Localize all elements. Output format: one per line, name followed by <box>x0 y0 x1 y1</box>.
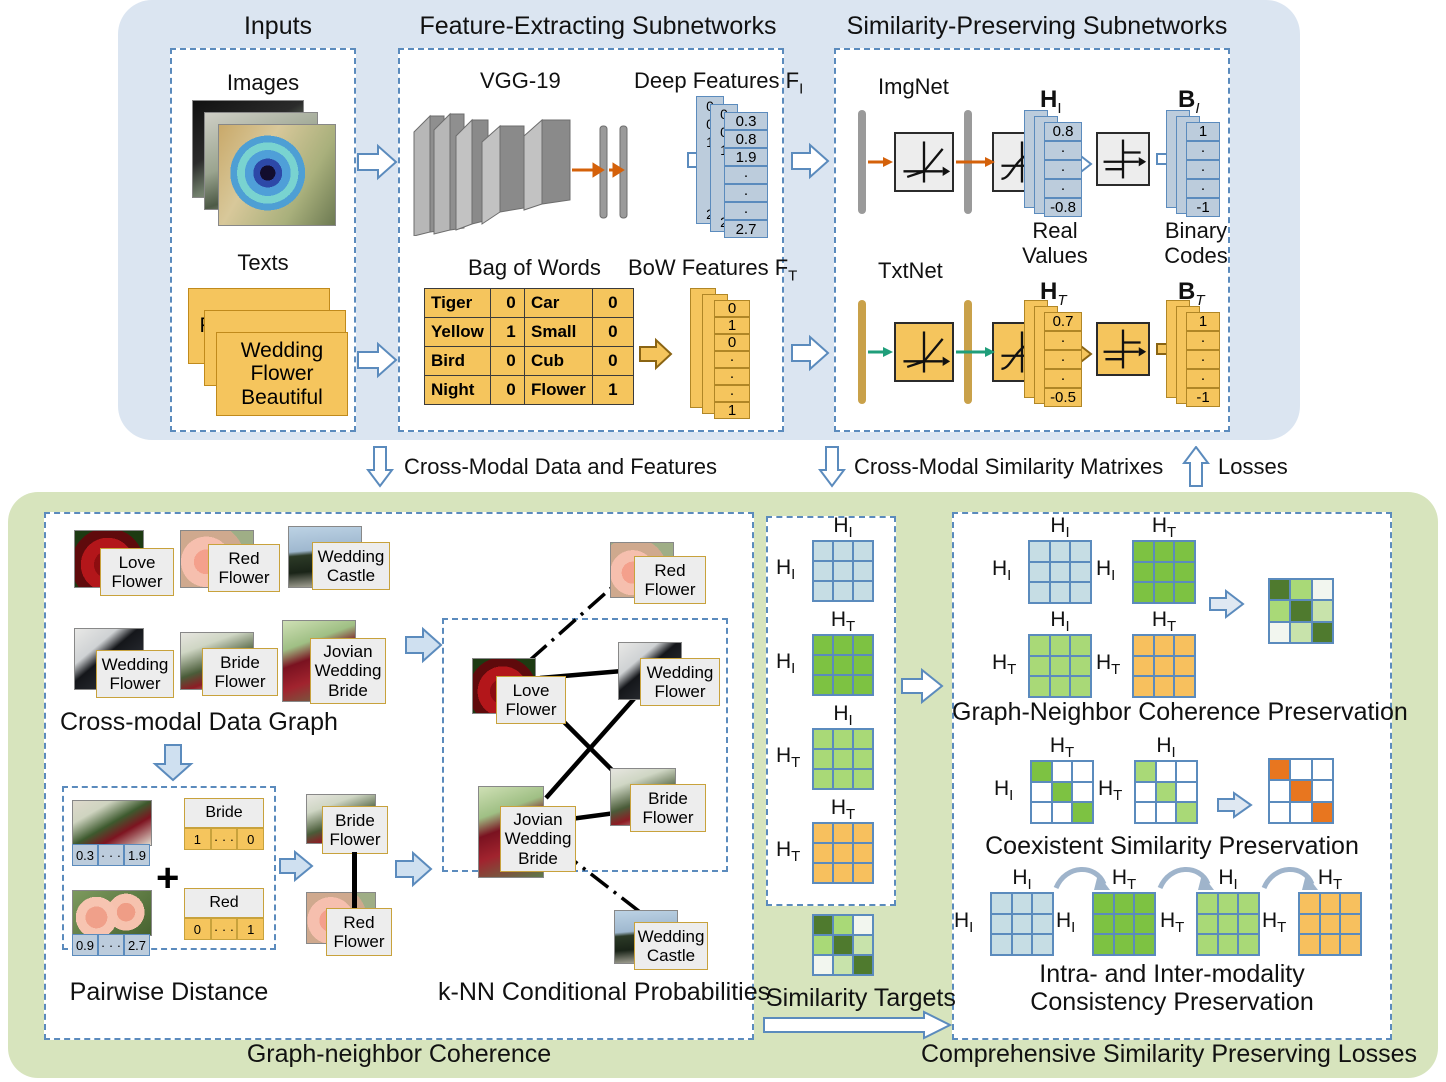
matrix-cell <box>1072 802 1093 823</box>
bow-word: Cub <box>525 347 593 376</box>
input-image-1 <box>218 124 336 226</box>
matrix-cell <box>1029 656 1050 677</box>
h-i-vector: 0.8···-0.8 <box>1044 122 1082 217</box>
matrix-row-subscript: I <box>1111 567 1115 584</box>
matrix-cell <box>1135 761 1156 782</box>
node-label[interactable]: LoveFlower <box>496 676 566 724</box>
node-label-line: Bride <box>648 789 688 808</box>
matrix-cell <box>1052 802 1073 823</box>
arrow-bowfeatures-to-txtnet <box>790 332 832 374</box>
vector-cell: · <box>1044 350 1082 369</box>
node-label-line: Flower <box>654 682 705 701</box>
matrix-row-letter: H <box>954 909 969 932</box>
similarity-matrix <box>1132 540 1196 604</box>
matrix-col-subscript: I <box>849 712 853 729</box>
node-label-line: Wedding <box>315 661 382 680</box>
matrix-cell <box>1070 562 1091 583</box>
vector-cell: · <box>714 368 750 385</box>
matrix-cell <box>991 934 1012 955</box>
matrix-cell <box>813 561 833 581</box>
node-label[interactable]: BrideFlower <box>202 648 278 696</box>
matrix-cell <box>1156 782 1177 803</box>
bow-word: Tiger <box>425 289 491 318</box>
binary-codes-label: Binary Codes <box>1148 218 1244 269</box>
bow-features-label: BoW Features FT <box>628 255 797 284</box>
bow-table-left: Tiger0Yellow1Bird0Night0 <box>424 288 532 405</box>
bow-word: Bird <box>425 347 491 376</box>
matrix-row-subscript: I <box>969 919 973 936</box>
bow-word: Yellow <box>425 318 491 347</box>
similarity-matrix <box>990 892 1054 956</box>
arrow-txtnet-2 <box>956 345 996 359</box>
matrix-cell <box>813 729 833 749</box>
vector-cell: · <box>1044 179 1082 198</box>
node-label-line: Wedding <box>318 547 385 566</box>
matrix-cell <box>813 675 833 695</box>
matrix-cell <box>1114 934 1135 955</box>
matrix-cell <box>1238 914 1259 935</box>
pairwise-text-title: Red <box>184 888 264 918</box>
node-label[interactable]: BrideFlower <box>322 806 388 854</box>
matrix-cell <box>1197 893 1218 914</box>
arrow-datagraph-to-knn <box>404 624 444 664</box>
vector-cell: · <box>1186 179 1220 198</box>
matrix-cell <box>1154 541 1175 562</box>
matrix-col-label: HT <box>1030 734 1094 761</box>
vector-cell: 1 <box>237 918 264 940</box>
node-label-line: Jovian <box>513 810 562 829</box>
vector-cell: 2.7 <box>124 934 150 956</box>
matrix-cell <box>1340 914 1361 935</box>
matrix-cell <box>1320 914 1341 935</box>
bow-table-right: Car0Small0Cub0Flower1 <box>524 288 634 405</box>
vector-cell: · <box>724 202 768 220</box>
matrix-cell <box>1269 780 1290 801</box>
matrix-cell <box>1070 582 1091 603</box>
matrix-cell <box>1154 582 1175 603</box>
matrix-row-subscript: I <box>1007 567 1011 584</box>
matrix-cell <box>1174 582 1195 603</box>
consistency-transfer-arrow <box>1052 860 1114 894</box>
node-label[interactable]: BrideFlower <box>630 784 706 832</box>
similarity-matrix <box>1132 634 1196 698</box>
matrix-cell <box>1290 802 1311 823</box>
bow-row: Car0 <box>525 289 634 318</box>
arrow-images-to-vgg <box>356 140 400 184</box>
matrix-col-subscript: T <box>1167 618 1176 635</box>
matrix-row-label: HI <box>954 909 973 936</box>
bow-word: Night <box>425 376 491 405</box>
matrix-cell <box>1218 914 1239 935</box>
matrix-cell <box>833 561 853 581</box>
matrix-cell <box>1133 541 1154 562</box>
matrix-row-label: HI <box>776 556 795 583</box>
vector-cell: 1 <box>184 828 211 850</box>
pairwise-image-vector: 0.9· · ·2.7 <box>72 934 150 956</box>
node-label-line: Flower <box>109 674 160 693</box>
matrix-cell <box>1312 622 1333 643</box>
similarity-matrix <box>1298 892 1362 956</box>
matrix-cell <box>813 749 833 769</box>
vector-cell: 1.9 <box>124 844 150 866</box>
matrix-cell <box>1299 893 1320 914</box>
matrix-col-subscript: I <box>1066 618 1070 635</box>
vector-cell: · <box>714 351 750 368</box>
matrix-cell <box>853 749 873 769</box>
bow-word: Small <box>525 318 593 347</box>
matrix-col-letter: H <box>1218 866 1233 889</box>
matrix-row-letter: H <box>1098 777 1113 800</box>
matrix-cell <box>1133 676 1154 697</box>
bow-row: Tiger0 <box>425 289 532 318</box>
matrix-cell <box>853 863 873 883</box>
vgg-network-icon <box>404 84 674 236</box>
matrix-cell <box>1133 656 1154 677</box>
matrix-col-letter: H <box>833 702 848 725</box>
matrix-cell <box>1012 893 1033 914</box>
matrix-cell <box>1320 893 1341 914</box>
matrix-cell <box>1154 676 1175 697</box>
matrix-row-subscript: T <box>791 848 800 865</box>
matrix-row-subscript: I <box>1009 787 1013 804</box>
bow-label: Bag of Words <box>468 255 601 281</box>
bow-feature-vector: 010···1 <box>714 300 750 419</box>
matrix-col-subscript: T <box>1065 744 1074 761</box>
matrix-cell <box>813 915 833 935</box>
connector-label-similarity-matrixes: Cross-Modal Similarity Matrixes <box>854 454 1163 480</box>
data-graph-caption: Cross-modal Data Graph <box>60 708 338 737</box>
real-values-line2: Values <box>1010 243 1100 268</box>
leaky-relu-icon-txt <box>894 322 954 382</box>
matrix-cell <box>833 823 853 843</box>
matrix-cell <box>1029 562 1050 583</box>
matrix-cell <box>1093 934 1114 955</box>
matrix-col-label: HI <box>812 702 874 729</box>
similarity-matrix <box>1134 760 1198 824</box>
arrow-bow-to-bowfeatures <box>638 336 674 372</box>
imgnet-input-layer <box>858 110 866 214</box>
arrow-gnc-result <box>1208 588 1246 620</box>
matrix-cell <box>1114 893 1135 914</box>
matrix-cell <box>1299 914 1320 935</box>
matrix-cell <box>833 655 853 675</box>
coexistent-caption: Coexistent Similarity Preservation <box>952 832 1392 861</box>
node-label[interactable]: JovianWeddingBride <box>310 638 386 704</box>
matrix-cell <box>1135 802 1156 823</box>
matrix-cell <box>853 581 873 601</box>
matrix-cell <box>991 914 1012 935</box>
arrow-simtargets-right <box>762 1010 952 1040</box>
node-label[interactable]: WeddingCastle <box>312 542 390 590</box>
matrix-cell <box>1032 934 1053 955</box>
node-label-line: Flower <box>505 700 556 719</box>
matrix-cell <box>1154 635 1175 656</box>
bow-row: Night0 <box>425 376 532 405</box>
binary-codes-line1: Binary <box>1148 218 1244 243</box>
node-label-line: Wedding <box>505 829 572 848</box>
knn-caption: k-NN Conditional Probabilities <box>438 978 770 1007</box>
matrix-cell <box>833 863 853 883</box>
node-label[interactable]: RedFlower <box>634 556 706 604</box>
matrix-cell <box>1134 934 1155 955</box>
matrix-col-subscript: T <box>1333 876 1342 893</box>
matrix-col-subscript: T <box>846 806 855 823</box>
matrix-cell <box>813 541 833 561</box>
node-label[interactable]: WeddingCastle <box>634 922 708 970</box>
vector-cell: 0.9 <box>72 934 98 956</box>
matrix-cell <box>1174 676 1195 697</box>
vector-cell: · <box>1186 350 1220 369</box>
arrow-imgnet-2 <box>956 155 996 169</box>
bow-value: 0 <box>592 289 633 318</box>
vector-cell: · <box>714 385 750 402</box>
matrix-cell <box>1312 802 1333 823</box>
node-label-line: Bride <box>335 811 375 830</box>
consistency-caption: Intra- and Inter-modality Consistency Pr… <box>952 960 1392 1016</box>
deep-feature-vector: 0.30.81.9···2.7 <box>724 112 768 238</box>
vector-cell: · <box>1044 160 1082 179</box>
vector-cell: · <box>1044 369 1082 388</box>
matrix-row-letter: H <box>1056 909 1071 932</box>
vector-cell: 1 <box>1186 122 1220 141</box>
bow-row: Cub0 <box>525 347 634 376</box>
matrix-col-subscript: T <box>1127 876 1136 893</box>
bow-row: Flower1 <box>525 376 634 405</box>
bottom-right-title: Comprehensive Similarity Preserving Loss… <box>900 1040 1438 1069</box>
graph-neighbor-result-heatmap <box>1268 578 1334 644</box>
bow-value: 0 <box>592 318 633 347</box>
matrix-row-subscript: I <box>1071 919 1075 936</box>
matrix-col-label: HI <box>990 866 1054 893</box>
node-label[interactable]: RedFlower <box>208 544 280 592</box>
matrix-cell <box>813 769 833 789</box>
matrix-cell <box>813 655 833 675</box>
matrix-cell <box>1156 802 1177 823</box>
matrix-cell <box>1174 541 1195 562</box>
matrix-col-letter: H <box>1152 514 1167 537</box>
matrix-col-letter: H <box>1012 866 1027 889</box>
matrix-cell <box>1290 759 1311 780</box>
similarity-matrix <box>812 822 874 884</box>
matrix-row-letter: H <box>776 744 791 767</box>
matrix-row-subscript: T <box>1175 919 1184 936</box>
matrix-cell <box>1312 600 1333 621</box>
h-i-subscript: I <box>1057 100 1061 117</box>
similarity-matrix <box>812 728 874 790</box>
matrix-row-label: HT <box>776 744 800 771</box>
pairwise-edge <box>352 852 357 908</box>
h-t-subscript: T <box>1057 292 1066 309</box>
node-label-line: Wedding <box>102 655 169 674</box>
bow-row: Yellow1 <box>425 318 532 347</box>
node-label-line: Bride <box>518 849 558 868</box>
vector-cell: 0 <box>714 300 750 317</box>
vector-cell: 1 <box>714 402 750 419</box>
vector-cell: 0 <box>714 334 750 351</box>
text-card-1: Wedding Flower Beautiful <box>216 332 348 416</box>
similarity-matrix <box>1030 760 1094 824</box>
matrix-cell <box>1197 914 1218 935</box>
matrix-col-letter: H <box>1050 734 1065 757</box>
matrix-cell <box>1114 914 1135 935</box>
matrix-cell <box>1176 761 1197 782</box>
matrix-row-label: HT <box>992 651 1016 678</box>
node-label-line: Love <box>513 681 550 700</box>
matrix-cell <box>1070 635 1091 656</box>
matrix-col-subscript: I <box>1028 876 1032 893</box>
matrix-cell <box>813 935 833 955</box>
matrix-cell <box>1238 934 1259 955</box>
matrix-cell <box>1093 893 1114 914</box>
matrix-col-label: HI <box>1134 734 1198 761</box>
matrix-cell <box>833 581 853 601</box>
node-label-line: Flower <box>214 672 265 691</box>
bow-features-text: BoW Features F <box>628 255 788 280</box>
matrix-col-letter: H <box>833 514 848 537</box>
vector-cell: 0 <box>184 918 211 940</box>
matrix-cell <box>853 675 873 695</box>
arrow-down-data-features <box>366 446 394 488</box>
matrix-cell <box>833 729 853 749</box>
matrix-col-label: HI <box>1028 514 1092 541</box>
node-label[interactable]: LoveFlower <box>100 548 174 596</box>
matrix-col-letter: H <box>1152 608 1167 631</box>
vector-cell: 2.7 <box>724 220 768 238</box>
matrix-cell <box>833 675 853 695</box>
arrow-coexistent-result <box>1216 790 1254 820</box>
vector-cell: · <box>1044 331 1082 350</box>
node-label-line: Red <box>228 549 259 568</box>
matrix-cell <box>853 823 873 843</box>
arrow-result-to-knn <box>394 848 434 888</box>
bow-row: Bird0 <box>425 347 532 376</box>
text-card-1-line2: Flower <box>250 362 313 386</box>
vector-cell: -0.8 <box>1044 198 1082 217</box>
matrix-row-letter: H <box>992 557 1007 580</box>
node-label-line: Red <box>654 561 685 580</box>
images-label: Images <box>170 70 356 96</box>
matrix-cell <box>1312 780 1333 801</box>
bow-value: 1 <box>592 376 633 405</box>
pairwise-text-vector: 1· · ·0 <box>184 828 264 850</box>
similarity-matrix <box>1092 892 1156 956</box>
matrix-col-subscript: T <box>1167 524 1176 541</box>
matrix-cell <box>1070 541 1091 562</box>
sign-icon-txt <box>1096 322 1150 376</box>
matrix-cell <box>1269 600 1290 621</box>
plus-sign: + <box>156 856 179 901</box>
matrix-cell <box>1133 582 1154 603</box>
node-label-line: Flower <box>111 572 162 591</box>
node-label[interactable]: RedFlower <box>326 908 392 956</box>
matrix-row-label: HT <box>1098 777 1122 804</box>
node-label-line: Flower <box>644 580 695 599</box>
node-label[interactable]: WeddingFlower <box>640 658 720 706</box>
matrix-cell <box>1050 635 1071 656</box>
matrix-cell <box>813 863 833 883</box>
matrix-cell <box>991 893 1012 914</box>
vector-cell: · <box>1044 141 1082 160</box>
matrix-cell <box>1012 934 1033 955</box>
vector-cell: 1.9 <box>724 148 768 166</box>
matrix-cell <box>1012 914 1033 935</box>
matrix-row-letter: H <box>776 650 791 673</box>
matrix-cell <box>1029 582 1050 603</box>
matrix-cell <box>813 843 833 863</box>
arrow-simtargets-to-losses <box>900 666 944 706</box>
vector-cell: 1 <box>1186 312 1220 331</box>
matrix-cell <box>1269 802 1290 823</box>
text-card-1-line1: Wedding <box>241 339 324 363</box>
leaky-relu-icon-img <box>894 132 954 192</box>
bow-value: 0 <box>592 347 633 376</box>
matrix-cell <box>1133 562 1154 583</box>
section-title-feature-extracting: Feature-Extracting Subnetworks <box>398 12 798 41</box>
similarity-matrix <box>1196 892 1260 956</box>
section-title-similarity-preserving: Similarity-Preserving Subnetworks <box>828 12 1246 41</box>
matrix-cell <box>813 955 833 975</box>
node-label-line: Wedding <box>647 663 714 682</box>
matrix-cell <box>1070 656 1091 677</box>
matrix-cell <box>833 541 853 561</box>
bow-word: Flower <box>525 376 593 405</box>
matrix-row-subscript: T <box>791 754 800 771</box>
matrix-cell <box>853 729 873 749</box>
coexistent-result-matrix <box>1268 758 1334 824</box>
matrix-cell <box>1176 782 1197 803</box>
matrix-cell <box>833 769 853 789</box>
matrix-cell <box>853 843 873 863</box>
matrix-row-letter: H <box>1160 909 1175 932</box>
connector-label-losses: Losses <box>1218 454 1288 480</box>
similarity-targets-heatmap <box>812 914 874 976</box>
matrix-col-subscript: I <box>1234 876 1238 893</box>
node-label-line: Love <box>119 553 156 572</box>
vector-cell: · <box>724 166 768 184</box>
node-label-line: Bride <box>328 681 368 700</box>
consistency-transfer-arrow <box>1156 860 1218 894</box>
matrix-row-subscript: T <box>1007 661 1016 678</box>
consistency-transfer-arrow <box>1260 860 1322 894</box>
matrix-cell <box>853 635 873 655</box>
matrix-cell <box>853 955 873 975</box>
consistency-caption-line1: Intra- and Inter-modality <box>952 960 1392 988</box>
bow-row: Small0 <box>525 318 634 347</box>
matrix-cell <box>1154 656 1175 677</box>
b-i-letter: B <box>1178 86 1195 113</box>
vector-cell: 0.8 <box>724 130 768 148</box>
matrix-cell <box>1269 579 1290 600</box>
matrix-row-letter: H <box>1096 557 1111 580</box>
node-label-line: Jovian <box>323 642 372 661</box>
similarity-targets-caption: Similarity Targets <box>766 984 928 1013</box>
matrix-cell <box>1290 780 1311 801</box>
pairwise-distance-caption: Pairwise Distance <box>62 978 276 1007</box>
matrix-cell <box>833 935 853 955</box>
b-i-vector: 1···-1 <box>1186 122 1220 217</box>
node-label-line: Flower <box>642 808 693 827</box>
arrow-pairwise-to-result <box>278 848 314 884</box>
matrix-cell <box>1218 893 1239 914</box>
matrix-cell <box>853 561 873 581</box>
matrix-cell <box>813 823 833 843</box>
matrix-cell <box>1070 676 1091 697</box>
node-label[interactable]: WeddingFlower <box>96 650 174 698</box>
vector-cell: · <box>724 184 768 202</box>
matrix-col-label: HT <box>1132 608 1196 635</box>
similarity-matrix <box>1028 540 1092 604</box>
node-label[interactable]: JovianWeddingBride <box>500 806 576 872</box>
